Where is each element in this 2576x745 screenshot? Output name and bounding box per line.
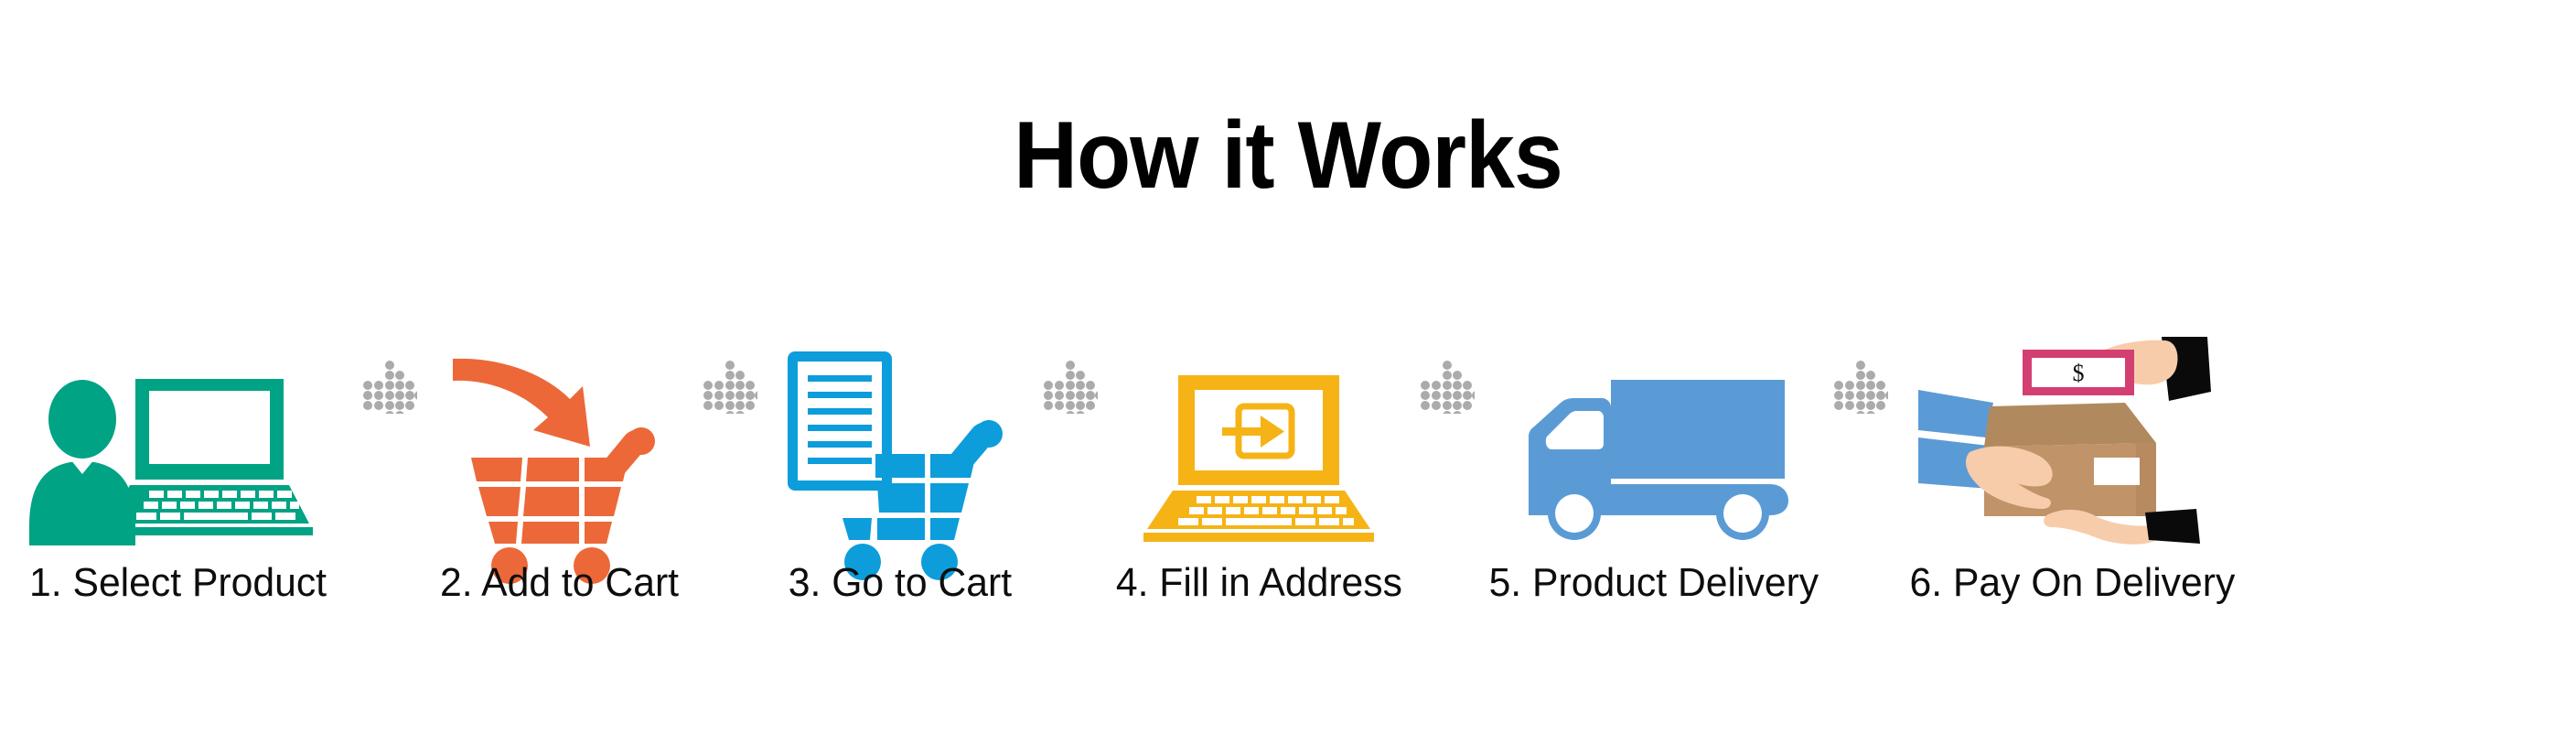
infographic-page: How it Works	[0, 0, 2576, 745]
document-cart-svg	[786, 351, 1014, 545]
hands-box-cash-icon: $	[1894, 317, 2250, 545]
steps-row: 1. Select Product	[0, 302, 2576, 604]
step-6-pay-on-delivery[interactable]: $	[1894, 302, 2250, 604]
hands-box-cash-svg: $	[1916, 335, 2227, 545]
step-1-select-product[interactable]: 1. Select Product	[0, 302, 357, 604]
dotted-arrow-svg	[1833, 361, 1888, 414]
laptop-login-form-icon	[1103, 317, 1414, 545]
step-6-label: 6. Pay On Delivery	[1909, 562, 2235, 604]
sleeve-cuff-bottom	[2145, 509, 2200, 544]
delivery-truck-icon	[1480, 317, 1828, 545]
step-4-fill-in-address[interactable]: 4. Fill in Address	[1103, 302, 1414, 604]
dotted-arrow-svg	[703, 361, 757, 414]
shipping-label	[2094, 458, 2140, 485]
laptop-login-svg	[1122, 372, 1396, 545]
step-3-go-to-cart[interactable]: 3. Go to Cart	[763, 302, 1037, 604]
dotted-arrow-svg	[1043, 361, 1098, 414]
step-2-label: 2. Add to Cart	[441, 562, 680, 604]
delivery-truck-svg	[1503, 376, 1805, 545]
dollar-sign-text: $	[2073, 360, 2085, 386]
dotted-arrow-right-icon-4	[1414, 236, 1480, 604]
dotted-arrow-right-icon-2	[697, 236, 763, 604]
document-cart-icon	[763, 317, 1037, 545]
step-3-label: 3. Go to Cart	[789, 562, 1012, 604]
step-4-label: 4. Fill in Address	[1115, 562, 1401, 604]
cart-with-curved-arrow-icon	[423, 317, 697, 545]
dotted-arrow-right-icon-5	[1828, 236, 1894, 604]
person-laptop-svg	[27, 372, 329, 545]
dotted-arrow-svg	[1420, 361, 1475, 414]
dotted-arrow-svg	[362, 361, 417, 414]
sleeve-blue-upper	[1918, 390, 1993, 437]
page-title: How it Works	[91, 108, 2486, 203]
step-5-product-delivery[interactable]: 5. Product Delivery	[1480, 302, 1828, 604]
step-1-label: 1. Select Product	[29, 562, 327, 604]
person-laptop-icon	[0, 317, 357, 545]
box-top-face	[1984, 403, 2156, 447]
banknote: $	[2023, 350, 2134, 395]
cart-arrow-svg	[445, 351, 674, 545]
step-5-label: 5. Product Delivery	[1489, 562, 1819, 604]
step-2-add-to-cart[interactable]: 2. Add to Cart	[423, 302, 697, 604]
dotted-arrow-right-icon-1	[357, 236, 423, 604]
dotted-arrow-right-icon-3	[1037, 236, 1103, 604]
